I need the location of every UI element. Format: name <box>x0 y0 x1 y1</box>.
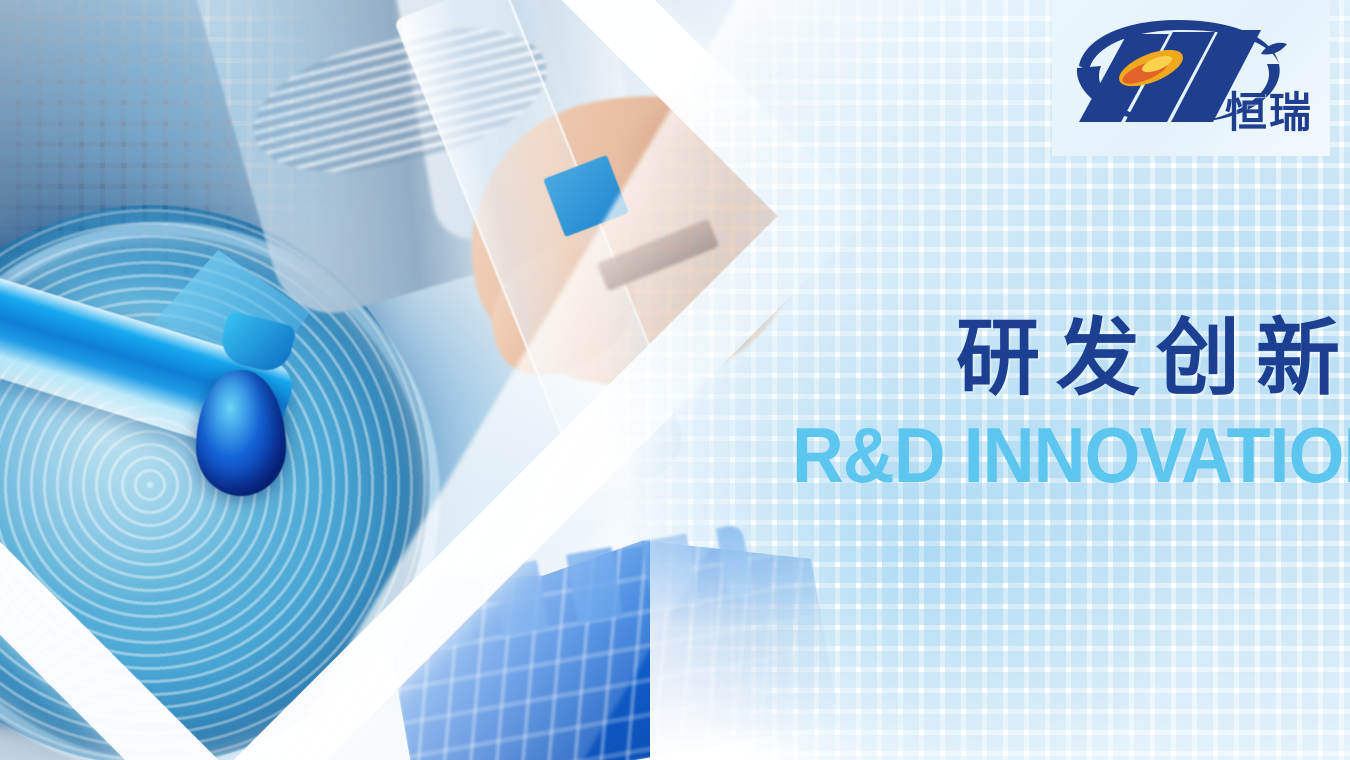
page-subtitle-en: R&D INNOVATION <box>792 416 1344 494</box>
page-title-cn: 研发创新 <box>744 316 1350 400</box>
logo-wrap: 恒瑞 <box>1065 18 1317 138</box>
rd-innovation-banner: 研发创新 R&D INNOVATION 恒瑞 <box>0 0 1350 760</box>
logo-text-cn: 恒瑞 <box>1225 92 1313 134</box>
logo-panel[interactable]: 恒瑞 <box>1052 0 1330 156</box>
headline-block: 研发创新 R&D INNOVATION <box>744 316 1344 494</box>
